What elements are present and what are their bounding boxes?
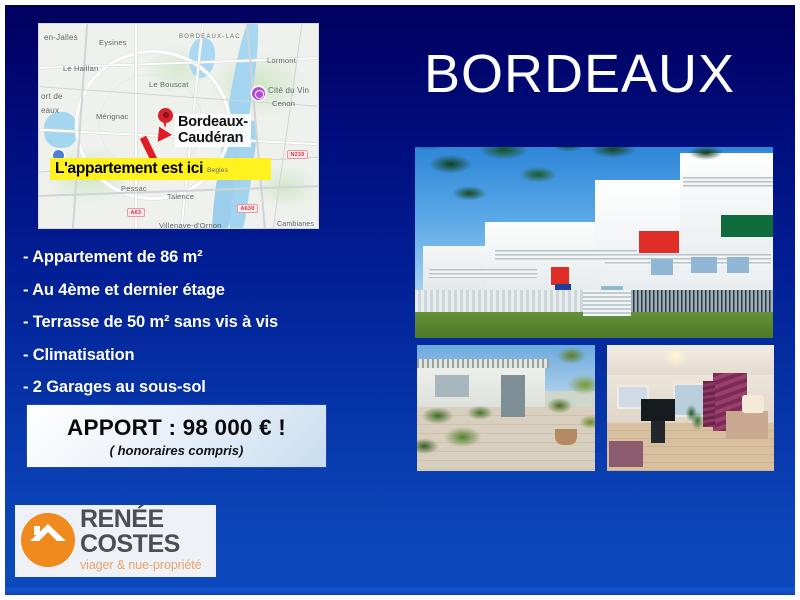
list-item: - Climatisation [23,346,353,365]
map-place-label: en-Jalles [44,33,78,42]
list-item: - Au 4ème et dernier étage [23,281,353,300]
photo-table [726,411,768,439]
photo-gate [583,290,631,316]
map-place-label: Cité du Vin [268,86,309,95]
map-highlight-label: L'appartement est ici [50,158,271,180]
photo-panel-red [639,231,679,253]
photo-panel-red [551,267,569,285]
photo-shrubs [417,393,505,469]
map-place-label: Villenave-d'Ornon [159,221,222,229]
photo-window [651,259,673,275]
list-item: - Appartement de 86 m² [23,248,353,267]
price-box: APPORT : 98 000 € ! ( honoraires compris… [26,404,327,468]
page-title: BORDEAUX [424,43,735,105]
callout-line-2: Caudéran [178,131,248,147]
photo-building-exterior[interactable] [415,147,773,338]
list-item: - 2 Garages au sous-sol [23,378,353,397]
map-place-label: Begles [207,167,228,174]
map-place-label: Pessac [121,184,147,193]
map-place-label: Eysines [99,38,127,47]
brand-tagline: viager & nue-propriété [80,560,201,572]
photo-indoor-plant [681,403,707,437]
brand-logo[interactable]: RENÉE COSTES viager & nue-propriété [15,505,216,577]
map-place-label: ort de [41,92,63,101]
photo-balcony [429,269,537,278]
house-roof-icon [21,513,75,567]
map-place-label: Le Bouscat [149,80,189,89]
map-poi-cite-du-vin-icon[interactable] [252,87,265,100]
map-road-shield: A630 [237,204,258,213]
map-place-label: Talence [167,192,194,201]
photo-tree-foliage [565,147,725,183]
price-amount: APPORT : 98 000 € ! [67,415,286,441]
photo-living-room[interactable] [607,345,774,471]
map-place-label: Le Haillan [63,64,98,73]
map-road-shield: A63 [127,208,145,217]
list-item: - Terrasse de 50 m² sans vis à vis [23,313,353,332]
map-road-shield: N230 [287,150,308,159]
map-place-label: Lormont [267,56,296,65]
map-callout-label: Bordeaux- Caudéran [175,114,251,147]
map-place-label: Cenon [272,99,295,108]
price-note: ( honoraires compris) [110,443,244,458]
photo-ceiling-light [663,351,687,367]
map-place-label: BORDEAUX-LAC [179,34,241,40]
pin-hole [163,112,169,118]
photo-tv-stand [651,421,665,443]
brand-line-2: COSTES [80,533,201,557]
photo-fence-dark [625,290,773,312]
callout-line-1: Bordeaux- [178,115,248,131]
slide: Bordeaux- Caudéran L'appartement est ici… [0,0,800,600]
location-map[interactable]: Bordeaux- Caudéran L'appartement est ici… [38,23,319,229]
photo-tree-foliage [527,345,595,443]
feature-list: - Appartement de 86 m² - Au 4ème et dern… [23,248,353,411]
map-place-label: Cambianes [277,221,314,228]
photo-television [641,399,675,421]
photo-lamp [742,395,764,413]
map-place-label: eaux [41,106,59,115]
photo-terrace[interactable] [417,345,595,471]
photo-sofa [609,441,643,467]
photo-panel-green [721,215,773,237]
chimney-shape [34,526,40,535]
photo-window [691,257,717,273]
brand-wordmark: RENÉE COSTES viager & nue-propriété [80,508,201,571]
arrow-head [152,123,172,142]
brand-line-1: RENÉE [80,508,201,532]
photo-window [727,257,749,273]
map-place-label: Mérignac [96,112,128,121]
